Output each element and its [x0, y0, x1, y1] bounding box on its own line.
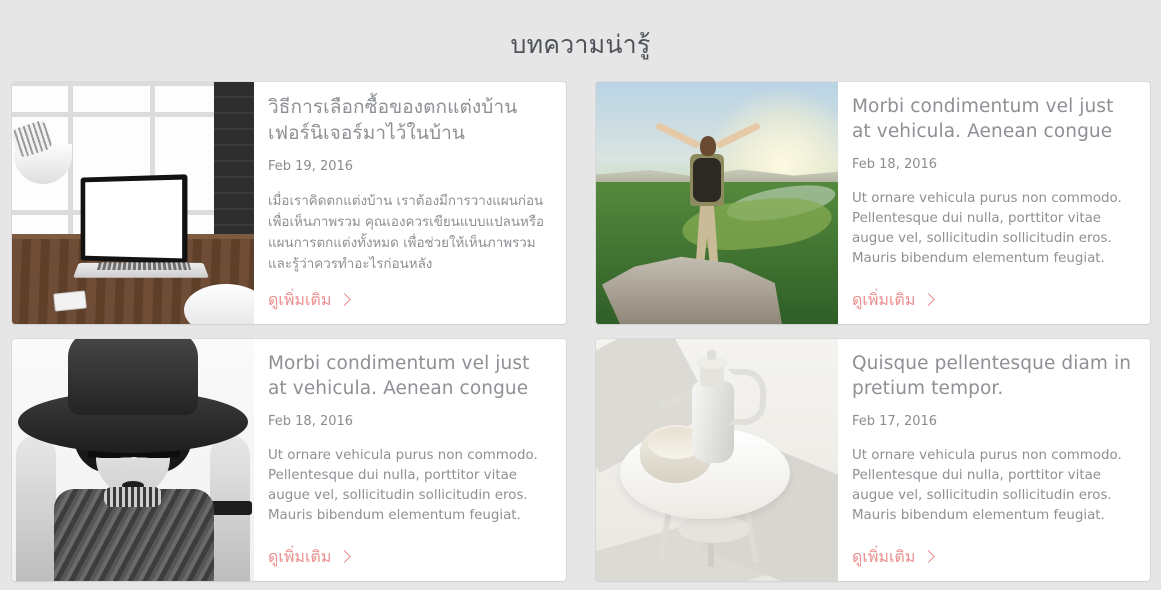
read-more-link[interactable]: ดูเพิ่มเติม — [268, 290, 349, 310]
read-more-link[interactable]: ดูเพิ่มเติม — [268, 547, 349, 567]
hiker-left-arm-shape — [655, 122, 701, 149]
chevron-right-icon — [338, 293, 351, 306]
article-excerpt: Ut ornare vehicula purus non commodo. Pe… — [268, 446, 550, 526]
read-more-link[interactable]: ดูเพิ่มเติม — [852, 547, 933, 567]
article-thumbnail-office-desk-laptop[interactable] — [12, 82, 254, 324]
table-shelf-shape — [678, 515, 750, 543]
laptop-screen-shape — [81, 174, 188, 263]
article-heading[interactable]: Morbi condimentum vel just at vehicula. … — [852, 94, 1134, 144]
phone-shape — [53, 290, 87, 311]
wristwatch-shape — [210, 501, 252, 515]
article-thumbnail-hiker-on-cliff[interactable] — [596, 82, 838, 324]
hiker-on-cliff-illustration — [596, 82, 838, 324]
read-more-label: ดูเพิ่มเติม — [268, 290, 331, 310]
read-more-link[interactable]: ดูเพิ่มเติม — [852, 290, 933, 310]
article-excerpt: เมื่อเราคิดตกแต่งบ้าน เราต้องมีการวางแผน… — [268, 191, 550, 275]
left-arm-shape — [16, 435, 56, 581]
article-card[interactable]: Morbi condimentum vel just at vehicula. … — [12, 339, 566, 581]
article-date: Feb 19, 2016 — [268, 158, 550, 176]
article-card-body: Morbi condimentum vel just at vehicula. … — [838, 82, 1150, 324]
black-and-white-portrait-illustration — [12, 339, 254, 581]
read-more-label: ดูเพิ่มเติม — [268, 547, 331, 567]
laptop-keyboard-shape — [97, 262, 191, 270]
collar-shape — [104, 487, 162, 507]
teapot-knob-shape — [707, 350, 716, 360]
chevron-right-icon — [922, 550, 935, 563]
article-listing-page: บทความน่ารู้ วิธี — [0, 0, 1161, 590]
chevron-right-icon — [338, 550, 351, 563]
article-card-body: Morbi condimentum vel just at vehicula. … — [254, 339, 566, 581]
chevron-right-icon — [922, 293, 935, 306]
page-title: บทความน่ารู้ — [0, 29, 1161, 61]
article-date: Feb 18, 2016 — [268, 413, 550, 431]
hat-crown-shape — [68, 339, 198, 415]
office-desk-laptop-illustration — [12, 82, 254, 324]
read-more-label: ดูเพิ่มเติม — [852, 547, 915, 567]
article-heading[interactable]: Morbi condimentum vel just at vehicula. … — [268, 351, 550, 401]
teapot-on-table-illustration — [596, 339, 838, 581]
brick-wall-shape — [214, 82, 254, 237]
article-card[interactable]: วิธีการเลือกซื้อของตกแต่งบ้าน เฟอร์นิเจอ… — [12, 82, 566, 324]
hiker-head-shape — [700, 136, 716, 156]
read-more-label: ดูเพิ่มเติม — [852, 290, 915, 310]
article-card[interactable]: Morbi condimentum vel just at vehicula. … — [596, 82, 1150, 324]
article-excerpt: Ut ornare vehicula purus non commodo. Pe… — [852, 189, 1134, 269]
article-date: Feb 17, 2016 — [852, 413, 1134, 431]
article-thumbnail-fashion-portrait[interactable] — [12, 339, 254, 581]
article-heading[interactable]: วิธีการเลือกซื้อของตกแต่งบ้าน เฟอร์นิเจอ… — [268, 94, 550, 146]
backpack-shape — [693, 158, 721, 202]
article-card-body: Quisque pellentesque diam in pretium tem… — [838, 339, 1150, 581]
article-card-grid: วิธีการเลือกซื้อของตกแต่งบ้าน เฟอร์นิเจอ… — [12, 82, 1149, 580]
article-excerpt: Ut ornare vehicula purus non commodo. Pe… — [852, 446, 1134, 526]
teapot-handle-shape — [728, 369, 766, 425]
article-date: Feb 18, 2016 — [852, 156, 1134, 174]
article-heading[interactable]: Quisque pellentesque diam in pretium tem… — [852, 351, 1134, 401]
article-card-body: วิธีการเลือกซื้อของตกแต่งบ้าน เฟอร์นิเจอ… — [254, 82, 566, 324]
article-card[interactable]: Quisque pellentesque diam in pretium tem… — [596, 339, 1150, 581]
article-thumbnail-teapot-table[interactable] — [596, 339, 838, 581]
